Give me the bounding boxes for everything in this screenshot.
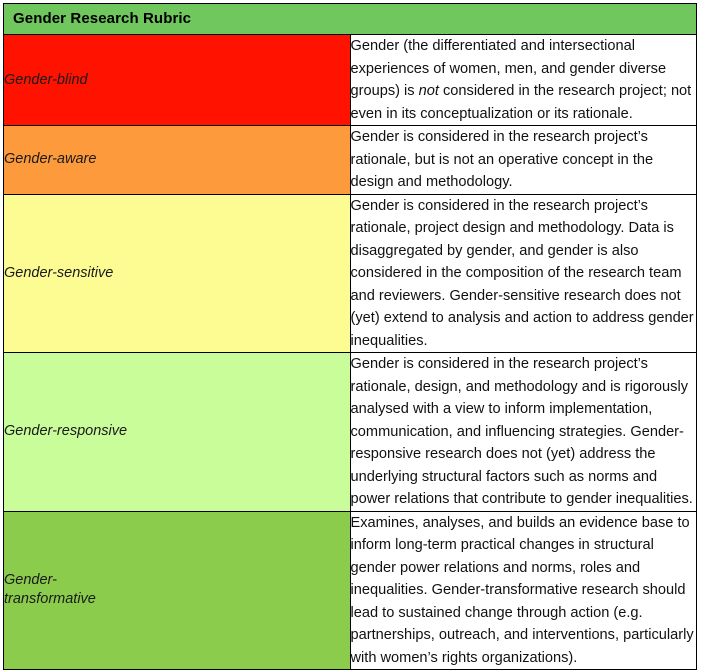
description-cell-gender-sensitive: Gender is considered in the research pro… bbox=[350, 194, 697, 353]
description-text: Gender is considered in the research pro… bbox=[351, 126, 697, 194]
level-label: Gender-aware bbox=[4, 150, 350, 169]
rubric-header-cell: Gender Research Rubric bbox=[4, 4, 697, 35]
level-cell-gender-responsive: Gender-responsive bbox=[4, 353, 351, 512]
level-cell-gender-sensitive: Gender-sensitive bbox=[4, 194, 351, 353]
page-title: Gender Research Rubric bbox=[13, 4, 696, 34]
table-row: Gender- transformative Examines, analyse… bbox=[4, 511, 697, 670]
description-cell-gender-responsive: Gender is considered in the research pro… bbox=[350, 353, 697, 512]
description-cell-gender-blind: Gender (the differentiated and intersect… bbox=[350, 35, 697, 126]
level-label: Gender-blind bbox=[4, 71, 350, 90]
gender-research-rubric: Gender Research Rubric Gender-blind Gend… bbox=[0, 3, 702, 550]
description-cell-gender-aware: Gender is considered in the research pro… bbox=[350, 126, 697, 195]
rubric-table: Gender Research Rubric Gender-blind Gend… bbox=[3, 3, 697, 670]
level-label: Gender-responsive bbox=[4, 422, 350, 441]
description-emphasis: not bbox=[419, 83, 439, 99]
description-cell-gender-transformative: Examines, analyses, and builds an eviden… bbox=[350, 511, 697, 670]
description-text: Examines, analyses, and builds an eviden… bbox=[351, 512, 697, 670]
description-text: Gender is considered in the research pro… bbox=[351, 353, 697, 511]
level-label-line-2: transformative bbox=[4, 590, 350, 609]
level-cell-gender-blind: Gender-blind bbox=[4, 35, 351, 126]
level-label-line-1: Gender- bbox=[4, 571, 350, 590]
table-row: Gender-sensitive Gender is considered in… bbox=[4, 194, 697, 353]
level-label: Gender-sensitive bbox=[4, 264, 350, 283]
table-row: Gender-blind Gender (the differentiated … bbox=[4, 35, 697, 126]
rubric-header-row: Gender Research Rubric bbox=[4, 4, 697, 35]
level-cell-gender-aware: Gender-aware bbox=[4, 126, 351, 195]
description-text: Gender (the differentiated and intersect… bbox=[351, 35, 697, 125]
description-text: Gender is considered in the research pro… bbox=[351, 195, 697, 353]
table-row: Gender-responsive Gender is considered i… bbox=[4, 353, 697, 512]
level-cell-gender-transformative: Gender- transformative bbox=[4, 511, 351, 670]
table-row: Gender-aware Gender is considered in the… bbox=[4, 126, 697, 195]
